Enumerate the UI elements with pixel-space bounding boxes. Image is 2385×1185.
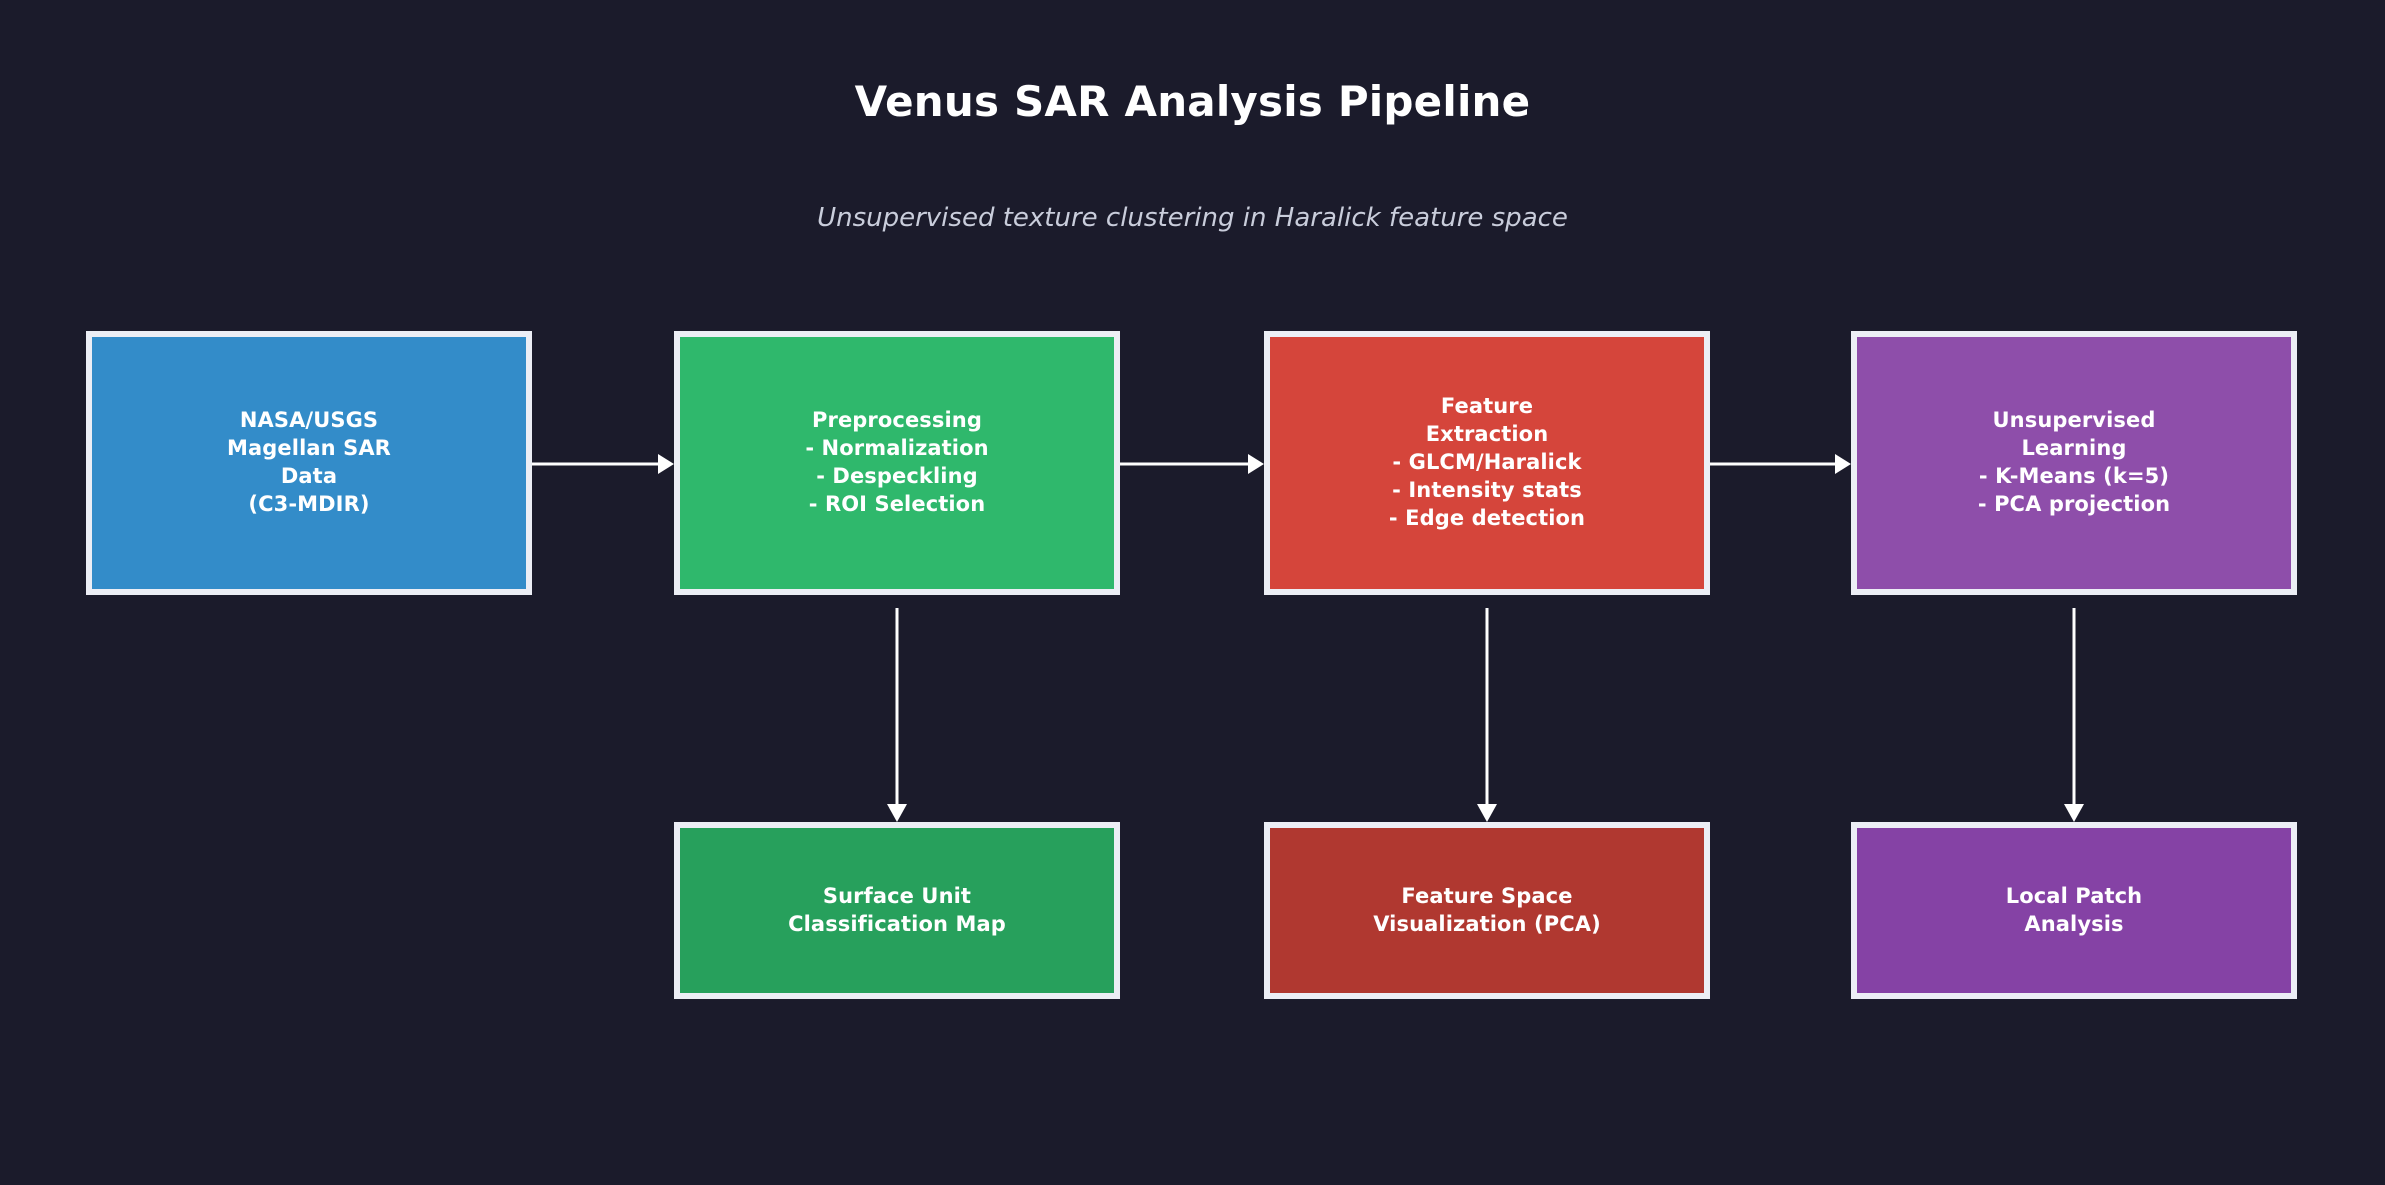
page-title: Venus SAR Analysis Pipeline xyxy=(0,79,2385,125)
node-unsupervised-learning[interactable]: Unsupervised Learning - K-Means (k=5) - … xyxy=(1851,331,2297,595)
edge-unsupervised-learning-to-local-patch-analysis xyxy=(2058,608,2090,822)
node-feature-extraction[interactable]: Feature Extraction - GLCM/Haralick - Int… xyxy=(1264,331,1710,595)
node-preprocessing-label: Preprocessing - Normalization - Despeckl… xyxy=(805,407,988,519)
page-subtitle: Unsupervised texture clustering in Haral… xyxy=(0,204,2385,233)
edge-preprocessing-to-surface-unit-map xyxy=(881,608,913,822)
edge-preprocessing-to-feature-extraction xyxy=(1120,448,1264,480)
node-feature-space-visualization[interactable]: Feature Space Visualization (PCA) xyxy=(1264,822,1710,999)
node-data-source-label: NASA/USGS Magellan SAR Data (C3-MDIR) xyxy=(227,407,391,519)
edge-feature-extraction-to-unsupervised-learning xyxy=(1710,448,1851,480)
edge-data-source-to-preprocessing xyxy=(532,448,674,480)
edge-feature-extraction-to-feature-space-visualization xyxy=(1471,608,1503,822)
node-local-patch-analysis[interactable]: Local Patch Analysis xyxy=(1851,822,2297,999)
node-local-patch-analysis-label: Local Patch Analysis xyxy=(2006,883,2142,939)
node-data-source[interactable]: NASA/USGS Magellan SAR Data (C3-MDIR) xyxy=(86,331,532,595)
node-preprocessing[interactable]: Preprocessing - Normalization - Despeckl… xyxy=(674,331,1120,595)
node-surface-unit-classification-map-label: Surface Unit Classification Map xyxy=(788,883,1006,939)
diagram-canvas: Venus SAR Analysis Pipeline Unsupervised… xyxy=(0,0,2385,1185)
node-feature-space-visualization-label: Feature Space Visualization (PCA) xyxy=(1373,883,1601,939)
node-unsupervised-learning-label: Unsupervised Learning - K-Means (k=5) - … xyxy=(1978,407,2170,519)
node-feature-extraction-label: Feature Extraction - GLCM/Haralick - Int… xyxy=(1389,393,1585,533)
node-surface-unit-classification-map[interactable]: Surface Unit Classification Map xyxy=(674,822,1120,999)
